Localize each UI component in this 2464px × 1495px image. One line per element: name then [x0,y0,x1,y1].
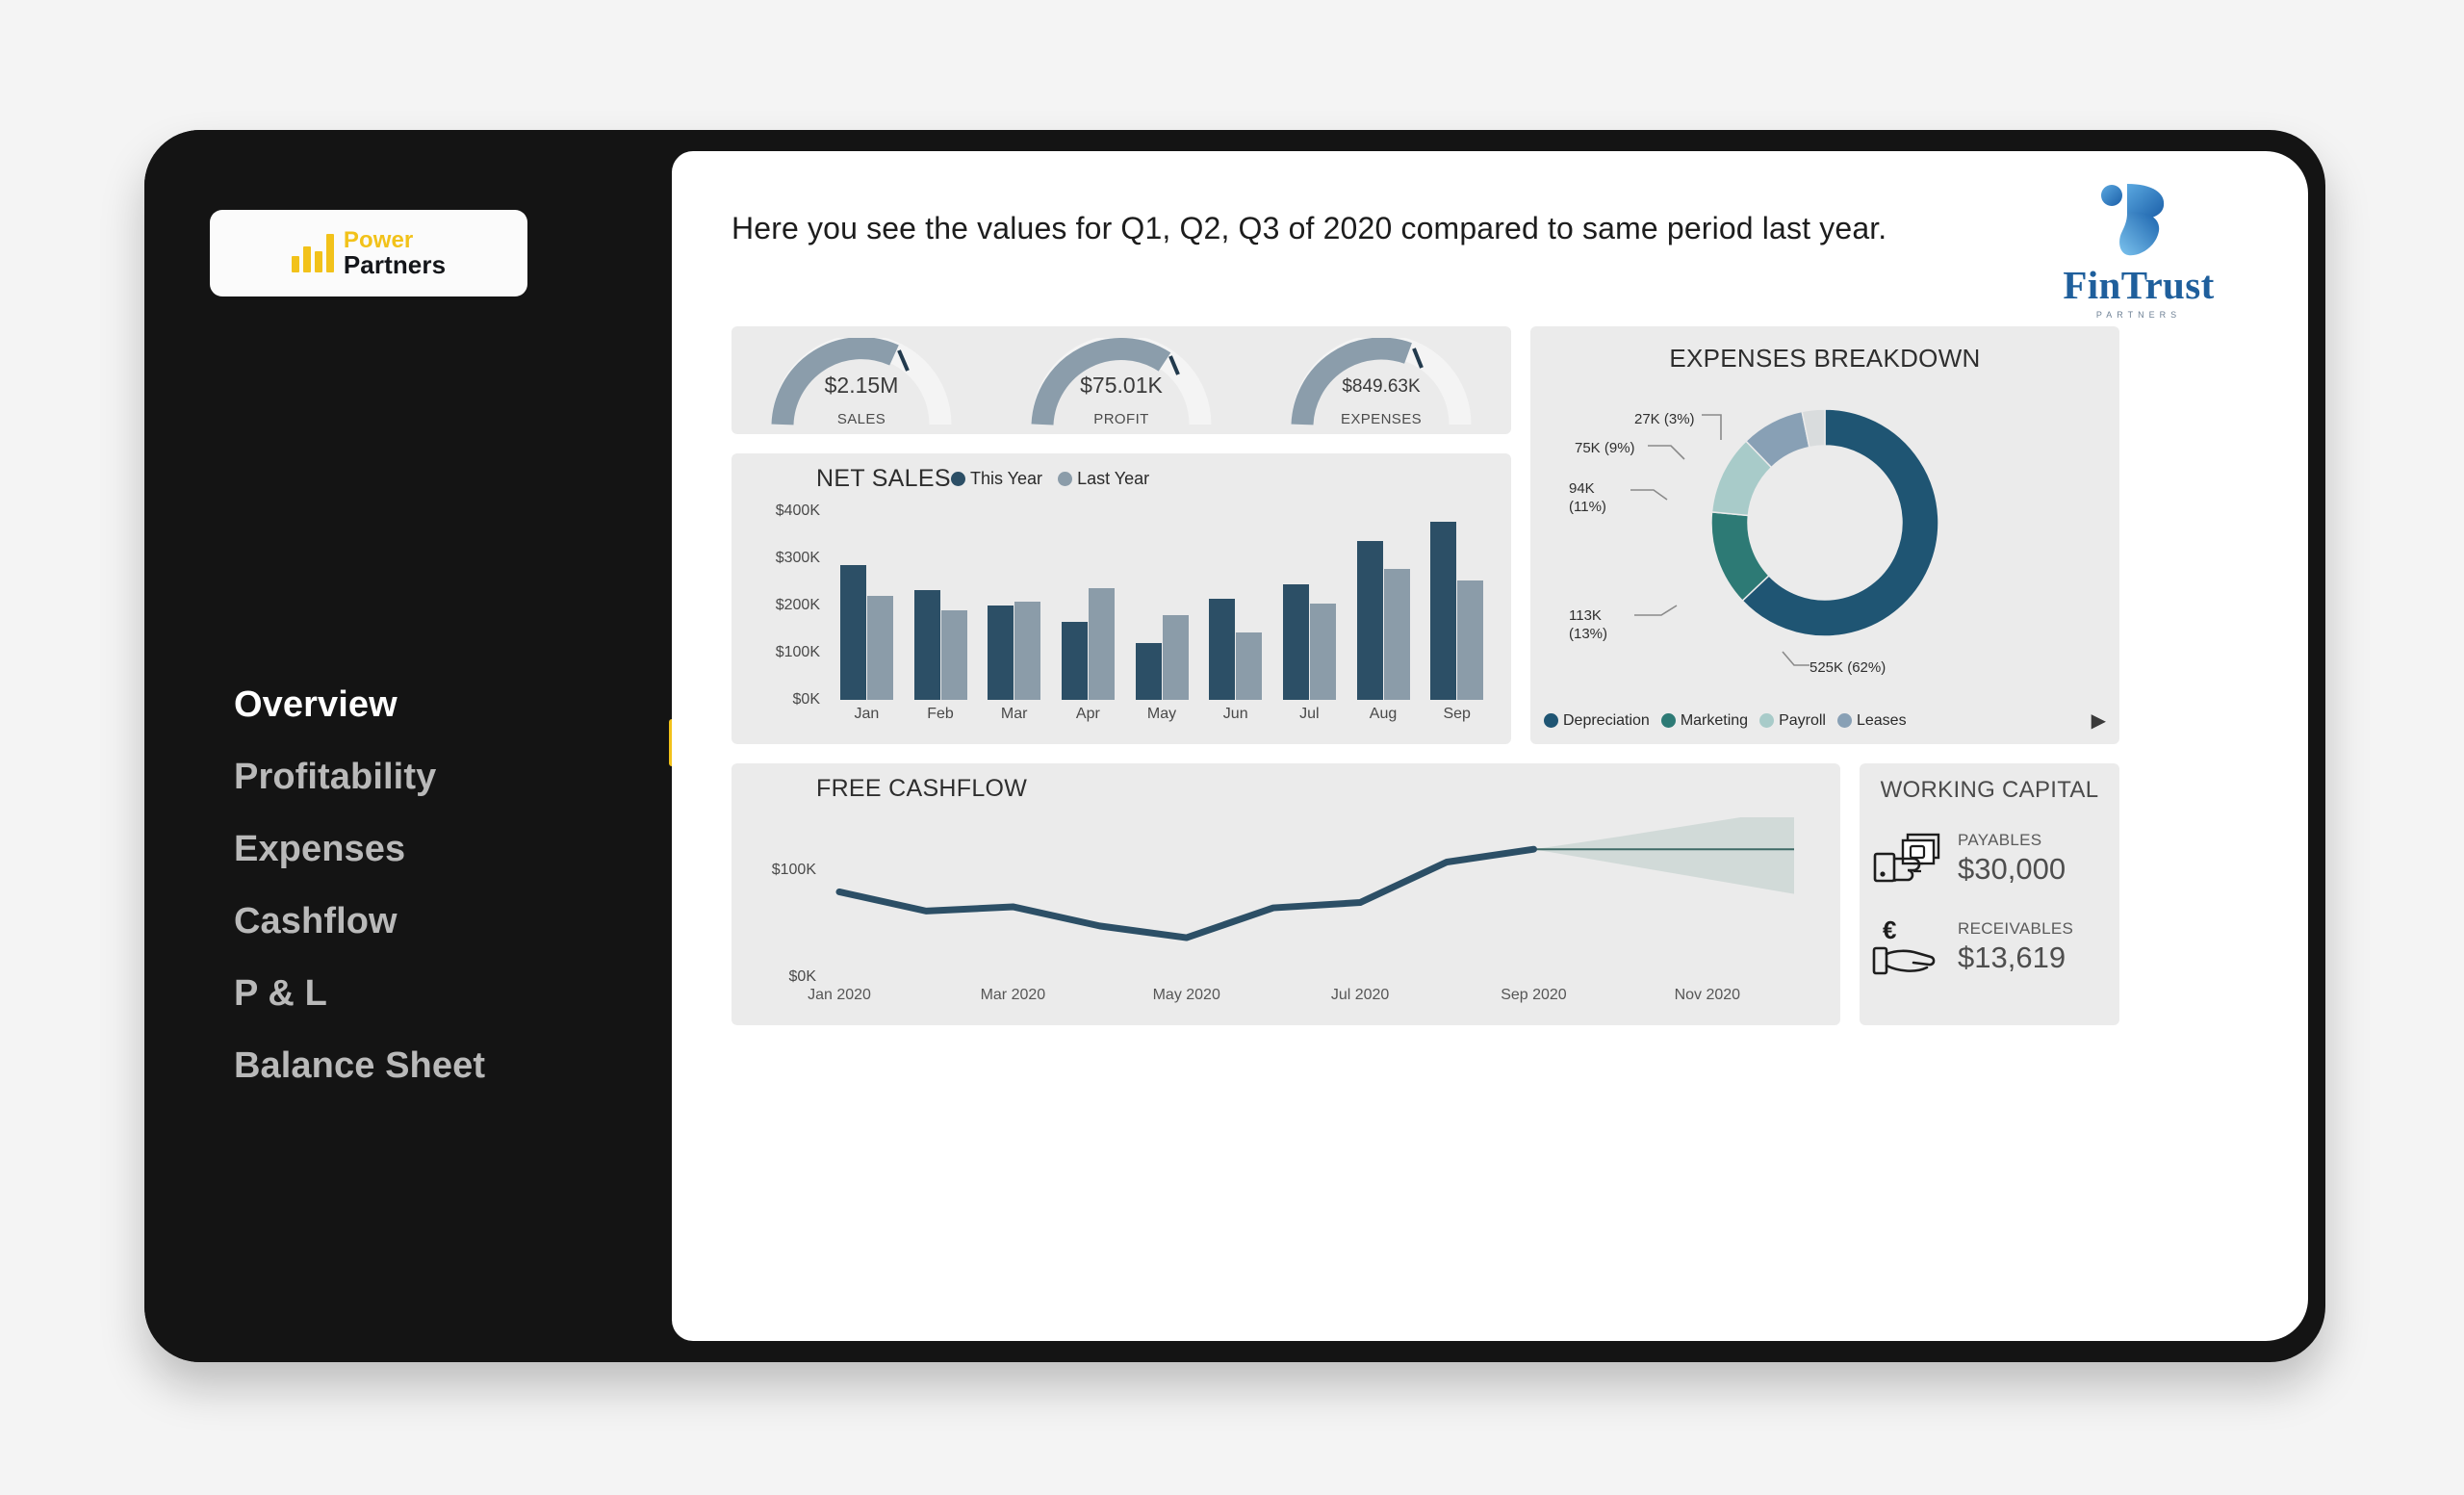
legend-swatch-icon [1837,713,1852,728]
gauge-profit[interactable]: $75.01K PROFIT [991,326,1251,434]
gauge-value: $75.01K [991,373,1251,399]
page-headline: Here you see the values for Q1, Q2, Q3 o… [731,211,1886,246]
expenses-donut[interactable] [1694,392,1956,658]
bar-group[interactable] [904,511,978,700]
net-sales-plot: $0K$100K$200K$300K$400K [830,511,1494,700]
net-sales-x-axis: JanFebMarAprMayJunJulAugSep [830,706,1494,723]
x-axis-tick: Jul [1272,706,1347,723]
bar-group[interactable] [1125,511,1199,700]
kpi-gauges-panel: $2.15M SALES $75.01K PROFIT [731,326,1511,434]
legend-swatch-icon [1544,713,1558,728]
working-capital-row-payables: PAYABLES $30,000 [1871,829,2108,889]
screenshot-root: Power Partners Overview Profitability Ex… [0,0,2464,1495]
x-axis-tick: Jul 2020 [1331,987,1390,1004]
expenses-title: EXPENSES BREAKDOWN [1530,344,2119,374]
legend-label: This Year [970,469,1042,489]
bar-this-year[interactable] [1062,622,1088,700]
y-axis-tick: $0K [789,968,816,986]
hand-cash-icon [1871,829,1948,889]
legend-label: Marketing [1681,712,1748,730]
bar-this-year[interactable] [1209,599,1235,700]
y-axis-tick: $200K [776,597,820,614]
y-axis-tick: $300K [776,550,820,567]
working-capital-panel: WORKING CAPITAL PAYABLES $30,000 [1860,763,2119,1025]
sidebar-item-expenses[interactable]: Expenses [144,813,672,886]
chevron-right-icon[interactable]: ▶ [2092,709,2106,733]
working-capital-title: WORKING CAPITAL [1860,777,2119,804]
sidebar-item-label: Profitability [234,757,436,798]
x-axis-tick: Aug [1347,706,1421,723]
donut-label-113k: 113K (13%) [1569,607,1607,644]
fintrust-mark-icon [2095,180,2182,261]
net-sales-legend: This Year Last Year [951,469,1149,489]
x-axis-tick: Jan [830,706,904,723]
legend-item-depreciation[interactable]: Depreciation [1544,712,1650,730]
cashflow-plot: $0K$100K [826,817,1808,977]
x-axis-tick: Jan 2020 [808,987,871,1004]
dashboard-header: Here you see the values for Q1, Q2, Q3 o… [672,151,2308,326]
x-axis-tick: Feb [904,706,978,723]
legend-label: Depreciation [1563,712,1650,730]
sidebar-item-label: Expenses [234,829,405,870]
bar-this-year[interactable] [1357,541,1383,700]
sidebar-item-label: Cashflow [234,901,398,942]
bar-last-year[interactable] [1384,569,1410,700]
bar-group[interactable] [977,511,1051,700]
bar-last-year[interactable] [1014,602,1040,700]
gauge-sales[interactable]: $2.15M SALES [731,326,991,434]
legend-item-this-year[interactable]: This Year [951,469,1042,489]
sidebar-item-label: Balance Sheet [234,1045,485,1087]
fintrust-logo: FinTrust PARTNERS [2042,180,2235,320]
bar-group[interactable] [1347,511,1421,700]
x-axis-tick: May 2020 [1153,987,1220,1004]
legend-item-leases[interactable]: Leases [1837,712,1907,730]
bar-group[interactable] [1198,511,1272,700]
bar-group[interactable] [1420,511,1494,700]
y-axis-tick: $0K [793,691,820,709]
legend-item-payroll[interactable]: Payroll [1759,712,1826,730]
bar-this-year[interactable] [1283,584,1309,700]
sidebar: Power Partners Overview Profitability Ex… [144,130,672,1362]
fintrust-subtitle: PARTNERS [2042,310,2235,320]
bar-chart-icon [292,234,334,272]
sidebar-item-cashflow[interactable]: Cashflow [144,886,672,958]
gauge-label: SALES [731,411,991,427]
x-axis-tick: Nov 2020 [1675,987,1741,1004]
legend-item-last-year[interactable]: Last Year [1058,469,1149,489]
donut-label-525k: 525K (62%) [1809,659,1886,678]
logo-text-top: Power [344,227,414,253]
bar-last-year[interactable] [1457,580,1483,700]
bar-group[interactable] [1051,511,1125,700]
x-axis-tick: Sep 2020 [1501,987,1567,1004]
working-capital-label: PAYABLES [1958,831,2066,850]
cashflow-title: FREE CASHFLOW [816,775,1027,803]
y-axis-tick: $400K [776,503,820,520]
legend-label: Last Year [1077,469,1149,489]
working-capital-label: RECEIVABLES [1958,919,2073,939]
net-sales-panel: NET SALES This Year Last Year $0K$100K$2… [731,453,1511,744]
expenses-breakdown-panel: EXPENSES BREAKDOWN 27K (3%) 75K (9%) 94K… [1530,326,2119,744]
x-axis-tick: Sep [1420,706,1494,723]
working-capital-value: $30,000 [1958,852,2066,887]
legend-item-marketing[interactable]: Marketing [1661,712,1748,730]
free-cashflow-panel: FREE CASHFLOW $0K$100K Jan 2020Mar 2020M… [731,763,1840,1025]
gauge-label: PROFIT [991,411,1251,427]
bar-last-year[interactable] [867,596,893,700]
donut-label-94k: 94K (11%) [1569,480,1606,517]
sidebar-item-label: Overview [234,684,398,726]
bar-this-year[interactable] [1430,522,1456,700]
y-axis-tick: $100K [772,862,816,879]
legend-label: Payroll [1779,712,1826,730]
logo-text-bottom: Partners [344,250,446,279]
gauge-label: EXPENSES [1251,411,1511,427]
bar-last-year[interactable] [941,610,967,700]
fintrust-name: FinTrust [2042,262,2235,308]
bar-this-year[interactable] [840,565,866,700]
x-axis-tick: Mar [977,706,1051,723]
sidebar-item-profitability[interactable]: Profitability [144,741,672,813]
expenses-legend: Depreciation Marketing Payroll Leases [1544,709,2106,733]
working-capital-row-receivables: € RECEIVABLES $13,619 [1871,917,2108,977]
dashboard-canvas: Here you see the values for Q1, Q2, Q3 o… [672,151,2308,1341]
sidebar-nav: Overview Profitability Expenses Cashflow… [144,669,672,1102]
legend-swatch-icon [1058,472,1072,486]
x-axis-tick: Mar 2020 [981,987,1046,1004]
device-frame: Power Partners Overview Profitability Ex… [144,130,2325,1362]
svg-text:€: € [1883,917,1896,944]
x-axis-tick: Jun [1198,706,1272,723]
bar-last-year[interactable] [1163,615,1189,700]
bar-this-year[interactable] [1136,643,1162,700]
legend-label: Leases [1857,712,1907,730]
sidebar-item-overview[interactable]: Overview [144,669,672,741]
net-sales-title: NET SALES [816,465,951,493]
legend-swatch-icon [1759,713,1774,728]
legend-swatch-icon [1661,713,1676,728]
y-axis-tick: $100K [776,644,820,661]
bar-last-year[interactable] [1089,588,1115,700]
cashflow-line-chart [826,817,1808,977]
donut-label-27k: 27K (3%) [1634,411,1695,429]
donut-label-75k: 75K (9%) [1575,440,1635,458]
bar-last-year[interactable] [1236,632,1262,700]
sidebar-item-balance-sheet[interactable]: Balance Sheet [144,1030,672,1102]
bar-this-year[interactable] [988,606,1014,700]
gauge-expenses[interactable]: $849.63K EXPENSES [1251,326,1511,434]
bar-group[interactable] [1272,511,1347,700]
sidebar-item-label: P & L [234,973,327,1015]
donut-chart-icon [1694,392,1956,654]
x-axis-tick: Apr [1051,706,1125,723]
net-sales-bars [830,511,1494,700]
working-capital-value: $13,619 [1958,941,2073,975]
bar-this-year[interactable] [914,590,940,700]
sidebar-item-pl[interactable]: P & L [144,958,672,1030]
brand-logo[interactable]: Power Partners [210,210,527,296]
gauge-value: $849.63K [1251,376,1511,398]
hand-euro-icon: € [1871,917,1948,977]
gauge-value: $2.15M [731,373,991,399]
legend-swatch-icon [951,472,965,486]
x-axis-tick: May [1125,706,1199,723]
bar-last-year[interactable] [1310,604,1336,700]
bar-group[interactable] [830,511,904,700]
